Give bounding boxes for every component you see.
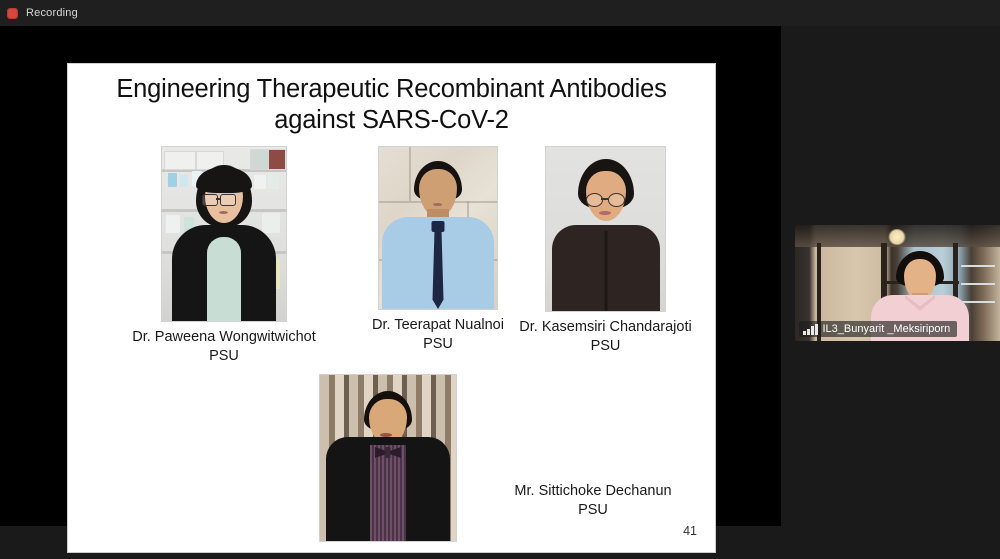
ceiling-lamp: [888, 229, 906, 245]
shared-screen-stage[interactable]: Engineering Therapeutic Recombinant Anti…: [0, 26, 781, 526]
person-org: PSU: [493, 501, 693, 520]
slide-title-line-1: Engineering Therapeutic Recombinant Anti…: [98, 74, 685, 105]
person-org: PSU: [498, 337, 713, 356]
person-name: Dr. Paweena Wongwitwichot: [132, 329, 316, 345]
recording-label: Recording: [26, 7, 78, 19]
presentation-slide: Engineering Therapeutic Recombinant Anti…: [68, 64, 715, 552]
person-caption: Mr. Sittichoke Dechanun PSU: [493, 482, 693, 520]
person-name: Dr. Teerapat Nualnoi: [372, 317, 504, 333]
person-org: PSU: [99, 347, 349, 366]
person-card: Dr. Paweena Wongwitwichot PSU: [99, 146, 349, 366]
meeting-screen: Recording Engineering Therapeutic Recomb…: [0, 0, 1000, 559]
person-name: Dr. Kasemsiri Chandarajoti: [519, 319, 691, 335]
person-caption: Dr. Paweena Wongwitwichot PSU: [99, 328, 349, 366]
slide-title-line-2: against SARS-CoV-2: [98, 105, 685, 136]
person-card: [308, 374, 468, 542]
participant-name-badge: IL3_Bunyarit _Meksiriporn: [799, 321, 957, 337]
top-bar: Recording: [0, 0, 1000, 26]
portrait-photo-sittichoke: [319, 374, 457, 542]
slide-title: Engineering Therapeutic Recombinant Anti…: [98, 74, 685, 136]
participant-video-tile[interactable]: IL3_Bunyarit _Meksiriporn: [795, 225, 1000, 341]
person-caption: Dr. Kasemsiri Chandarajoti PSU: [498, 318, 713, 356]
portrait-photo-teerapat: [378, 146, 498, 310]
portrait-photo-kasemsiri: [545, 146, 666, 312]
slide-number: 41: [683, 524, 697, 538]
signal-bars-icon: [803, 324, 818, 335]
portrait-photo-paweena: [161, 146, 287, 322]
person-card: Dr. Kasemsiri Chandarajoti PSU: [498, 146, 713, 356]
participant-name: IL3_Bunyarit _Meksiriporn: [823, 323, 951, 335]
person-name: Mr. Sittichoke Dechanun: [514, 483, 671, 499]
record-dot-icon[interactable]: [7, 8, 18, 19]
